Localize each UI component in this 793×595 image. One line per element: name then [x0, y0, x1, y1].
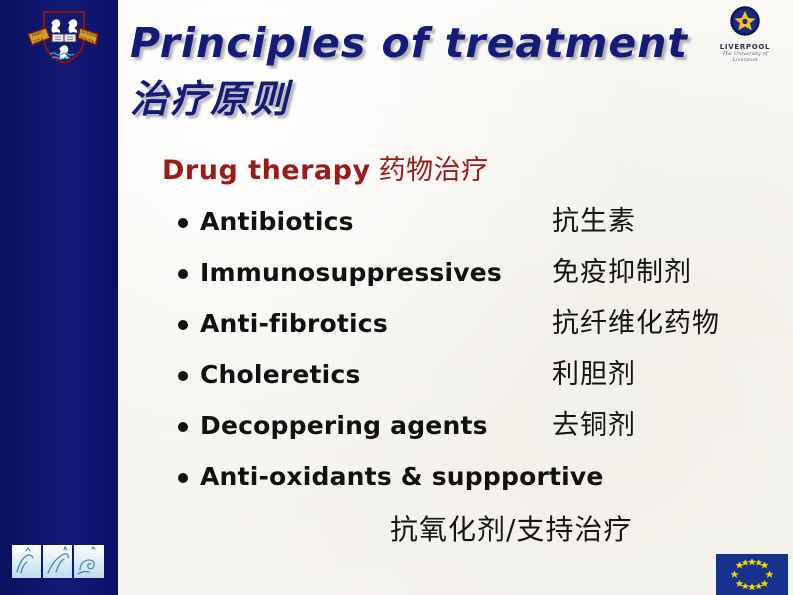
- list-item: Anti-oxidants & suppportive: [178, 461, 778, 512]
- decorative-triptych-graphic: [12, 545, 104, 578]
- bullet-list: Antibiotics 抗生素 Immunosuppressives 免疫抑制剂…: [178, 206, 778, 512]
- bullet-label-chinese: 利胆剂: [552, 359, 636, 390]
- subtitle-chinese: 药物治疗: [379, 155, 489, 186]
- presentation-slide: HAEC OTIA STUDIA FOVENT LIVERPOOL The Un…: [0, 0, 793, 595]
- bullet-label-english: Immunosuppressives: [200, 257, 552, 288]
- bullet-label-chinese: 去铜剂: [552, 410, 636, 441]
- slide-title-chinese: 治疗原则: [130, 78, 290, 120]
- bullet-label-english: Choleretics: [200, 359, 552, 390]
- list-item: Immunosuppressives 免疫抑制剂: [178, 257, 778, 308]
- bullet-label-english: Anti-oxidants & suppportive: [200, 461, 604, 492]
- european-union-flag-icon: [716, 554, 788, 595]
- bullet-dot-icon: [178, 422, 188, 432]
- bullet-dot-icon: [178, 473, 188, 483]
- bullet-dot-icon: [178, 269, 188, 279]
- slide-title-english: Principles of treatment: [130, 21, 688, 65]
- bullet-dot-icon: [178, 218, 188, 228]
- liverpool-wordmark: LIVERPOOL: [712, 43, 778, 51]
- liverpool-logo: LIVERPOOL The University of Liverpool: [712, 4, 778, 60]
- list-item: Choleretics 利胆剂: [178, 359, 778, 410]
- bullet-label-chinese: 免疫抑制剂: [552, 257, 692, 288]
- bullet-label-chinese: 抗纤维化药物: [552, 308, 720, 339]
- list-item: Antibiotics 抗生素: [178, 206, 778, 257]
- slide-subtitle: Drug therapy药物治疗: [162, 148, 489, 187]
- bullet-label-english: Anti-fibrotics: [200, 308, 552, 339]
- left-sidebar-band: [0, 0, 118, 595]
- subtitle-english: Drug therapy: [162, 155, 371, 186]
- university-of-liverpool-crest-icon: HAEC OTIA STUDIA FOVENT: [24, 6, 104, 68]
- bullet-dot-icon: [178, 371, 188, 381]
- bullet-label-english: Decoppering agents: [200, 410, 552, 441]
- bullet-label-chinese-wrapped: 抗氧化剂/支持治疗: [390, 508, 632, 548]
- bullet-label-english: Antibiotics: [200, 206, 552, 237]
- list-item: Decoppering agents 去铜剂: [178, 410, 778, 461]
- bullet-dot-icon: [178, 320, 188, 330]
- liverpool-roundel-icon: [712, 4, 778, 38]
- list-item: Anti-fibrotics 抗纤维化药物: [178, 308, 778, 359]
- liverpool-subtext: The University of Liverpool: [712, 51, 778, 63]
- bullet-label-chinese: 抗生素: [552, 206, 636, 237]
